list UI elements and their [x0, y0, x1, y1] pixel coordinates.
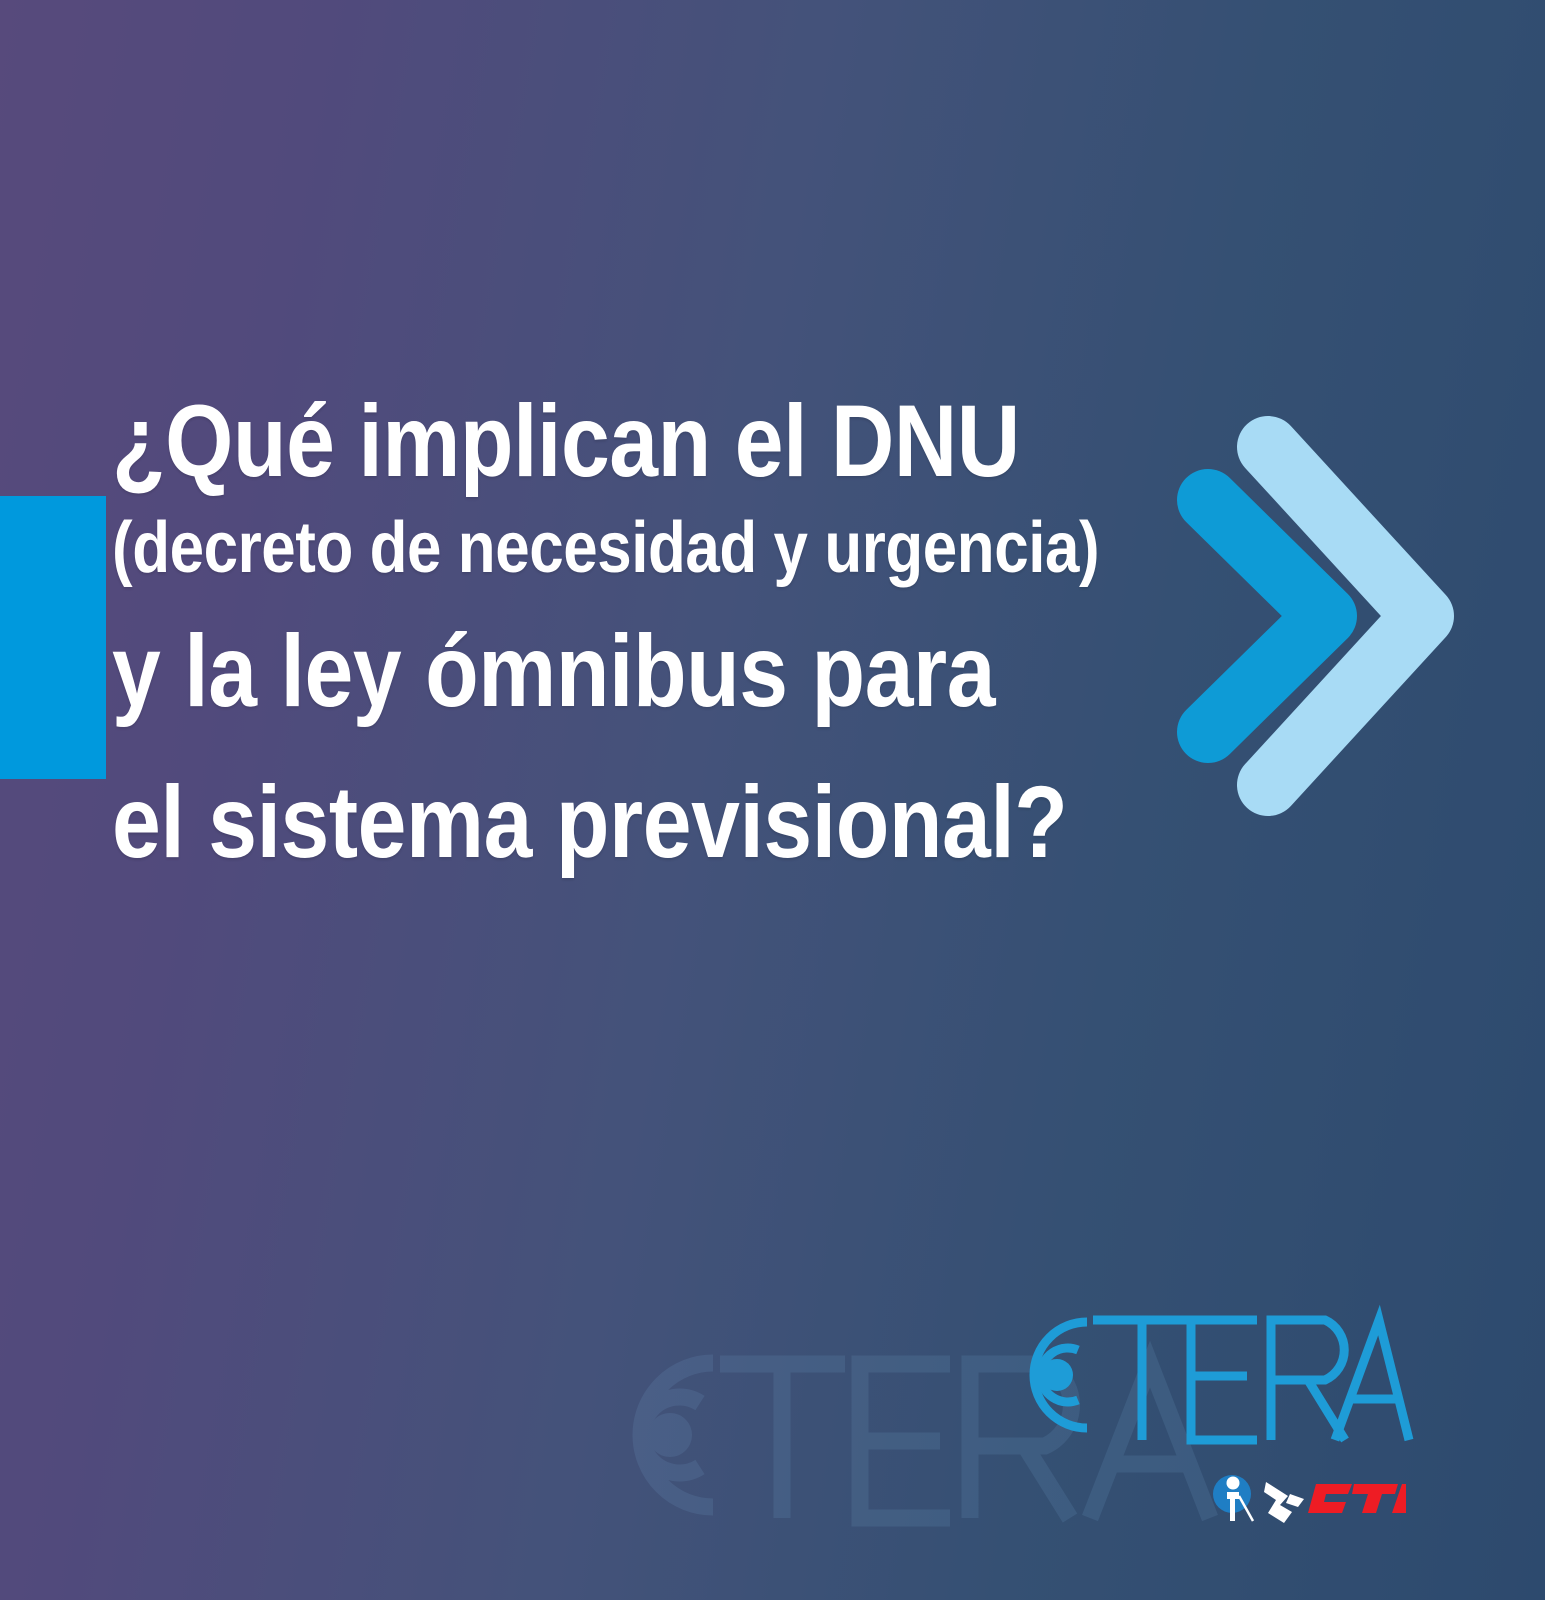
headline-line-3: y la ley ómnibus para: [112, 596, 1221, 746]
poster-canvas: ¿Qué implican el DNU (decreto de necesid…: [0, 0, 1545, 1600]
cta-logo: [1206, 1466, 1406, 1528]
ctera-logo: [995, 1300, 1415, 1452]
cta-wordmark: [1308, 1484, 1406, 1513]
accent-bar: [0, 496, 106, 779]
headline-line-4: el sistema previsional?: [112, 746, 1221, 898]
headline-line-1: ¿Qué implican el DNU: [112, 382, 1221, 500]
page-title: ¿Qué implican el DNU (decreto de necesid…: [112, 382, 1402, 898]
kicking-figure: [1264, 1482, 1304, 1523]
person-head: [1227, 1477, 1240, 1490]
headline-line-2: (decreto de necesidad y urgencia): [112, 500, 1221, 596]
